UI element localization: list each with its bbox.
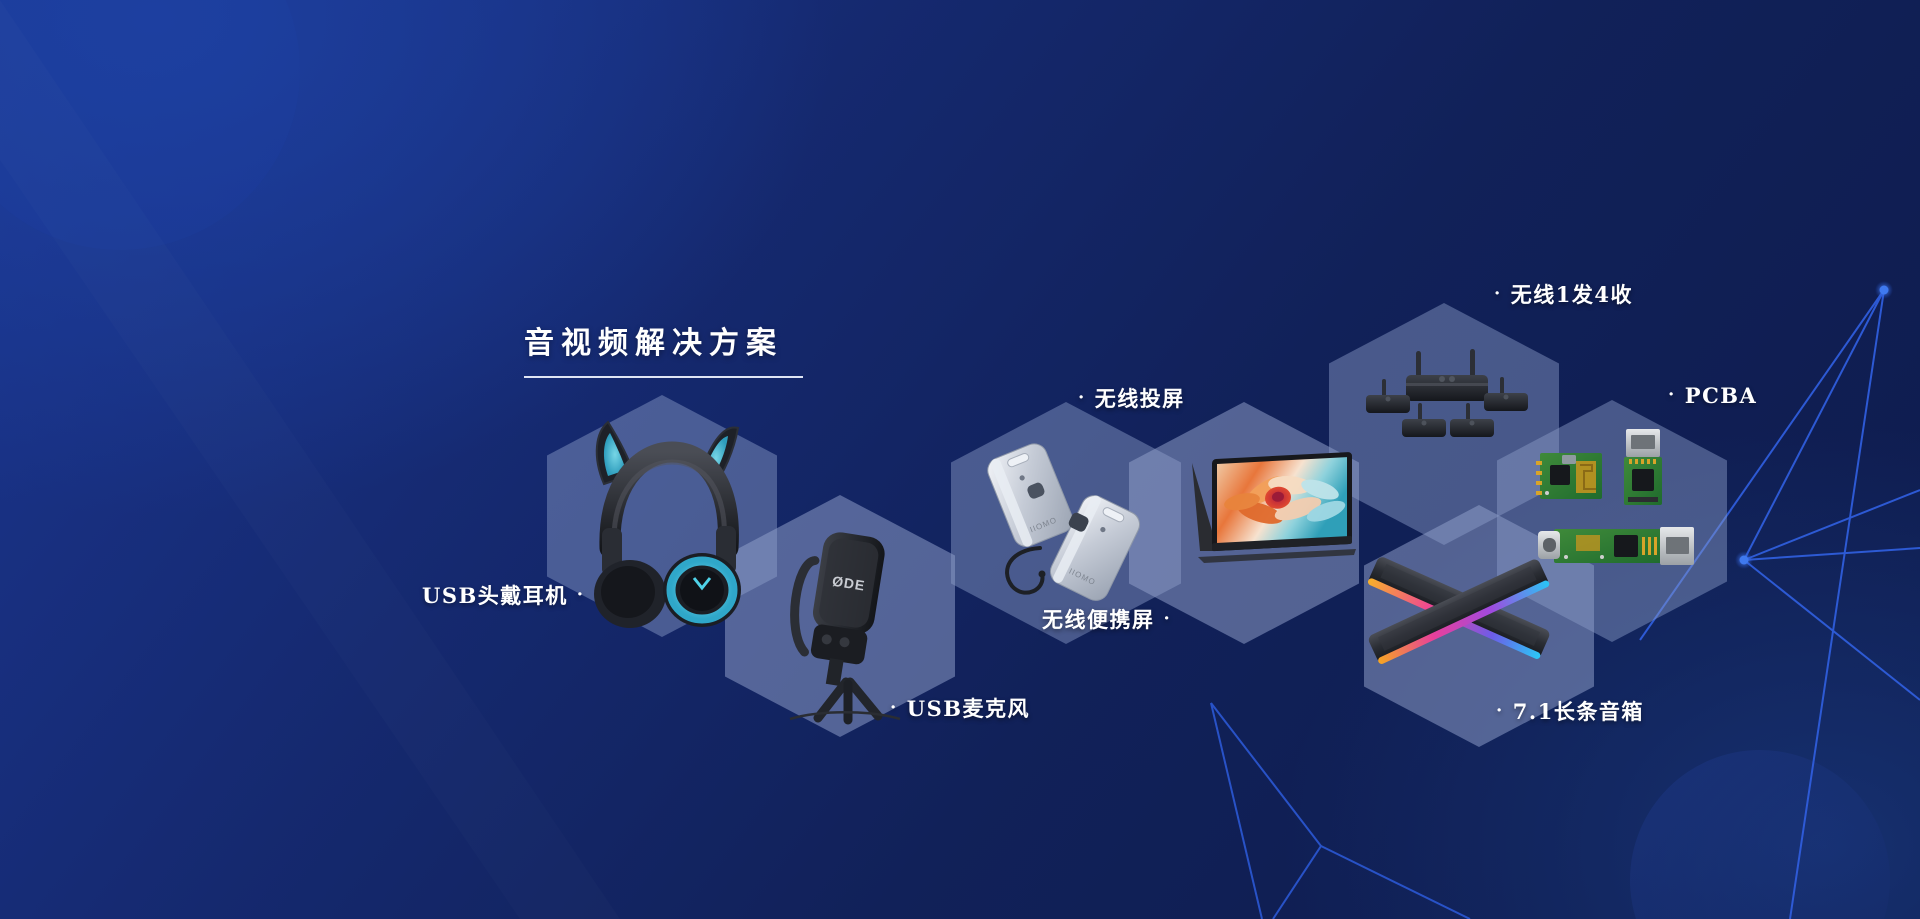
bullet-dot: · bbox=[577, 584, 585, 605]
bullet-dot: · bbox=[1078, 387, 1086, 408]
label-usb-headset-text: USB头戴耳机 bbox=[422, 583, 568, 608]
page-title: 音视频解决方案 bbox=[524, 318, 803, 362]
label-soundbar[interactable]: ·7.1长条音箱 bbox=[1496, 696, 1644, 726]
bullet-dot: · bbox=[1668, 384, 1676, 405]
label-wireless-1t4r-text: 无线1发4收 bbox=[1511, 282, 1633, 307]
label-pcba[interactable]: ·PCBA bbox=[1668, 383, 1757, 408]
constellation-bottom bbox=[1211, 703, 1470, 919]
label-wireless-portable-screen[interactable]: 无线便携屏· bbox=[1042, 604, 1171, 634]
title-block: 音视频解决方案 bbox=[524, 318, 803, 378]
bullet-dot: · bbox=[1164, 608, 1172, 629]
label-wireless-1t4r[interactable]: ·无线1发4收 bbox=[1494, 279, 1633, 309]
decor-sheen bbox=[0, 0, 620, 919]
bullet-dot: · bbox=[1496, 700, 1504, 721]
label-usb-microphone[interactable]: ·USB麦克风 bbox=[890, 693, 1030, 723]
hero-banner: ØDE IIOMO bbox=[0, 0, 1920, 919]
title-underline bbox=[524, 376, 803, 378]
label-wireless-casting[interactable]: ·无线投屏 bbox=[1078, 383, 1185, 413]
bullet-dot: · bbox=[1494, 283, 1502, 304]
label-wireless-portable-screen-text: 无线便携屏 bbox=[1042, 607, 1155, 632]
label-usb-headset[interactable]: USB头戴耳机· bbox=[422, 580, 585, 610]
bullet-dot: · bbox=[890, 697, 898, 718]
label-soundbar-text: 7.1长条音箱 bbox=[1513, 699, 1644, 724]
label-usb-microphone-text: USB麦克风 bbox=[907, 696, 1030, 721]
decor-circle bbox=[1630, 750, 1890, 919]
label-wireless-casting-text: 无线投屏 bbox=[1095, 386, 1185, 411]
decor-circle-2 bbox=[0, 0, 300, 250]
label-pcba-text: PCBA bbox=[1685, 383, 1758, 408]
